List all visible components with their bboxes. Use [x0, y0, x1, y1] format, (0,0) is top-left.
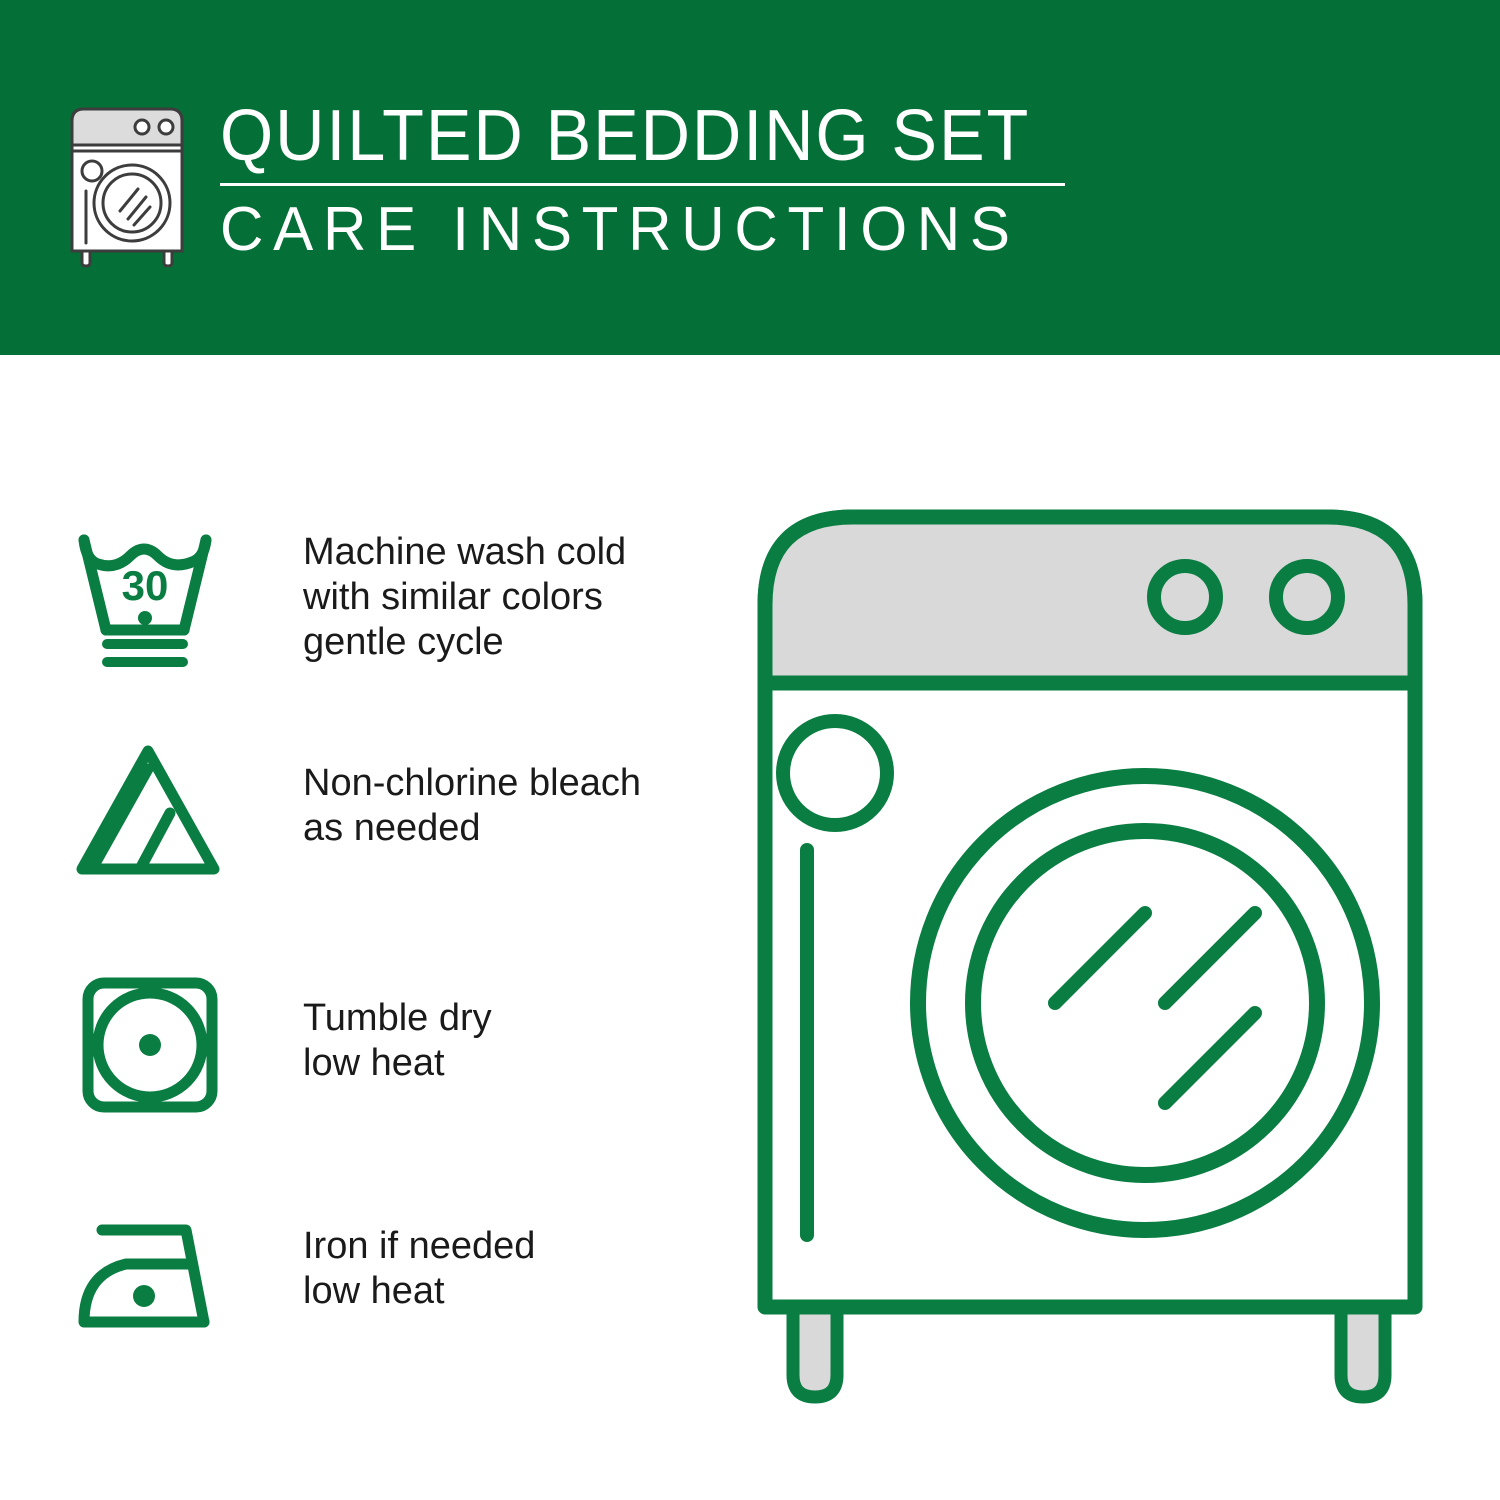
- detergent-dispenser: [783, 721, 887, 825]
- wash-temp-label: 30: [122, 562, 169, 609]
- care-text-line: with similar colors: [303, 575, 626, 620]
- title-divider: [220, 183, 1065, 186]
- knob-left: [1154, 566, 1216, 628]
- care-item-tumble-dry: Tumble dry low heat: [70, 970, 710, 1120]
- care-item-bleach: Non-chlorine bleach as needed: [70, 735, 710, 885]
- care-instructions-list: 30 Machine wash cold with similar colors…: [70, 500, 710, 1360]
- header-content: QUILTED BEDDING SET CARE INSTRUCTIONS: [62, 95, 1062, 280]
- wash-tub-30-gentle-icon: 30: [70, 522, 235, 672]
- page-subtitle: CARE INSTRUCTIONS: [220, 194, 1054, 266]
- care-text-line: low heat: [303, 1269, 535, 1314]
- care-text-line: Machine wash cold: [303, 530, 626, 575]
- care-text-line: as needed: [303, 806, 641, 851]
- washing-machine-icon: [62, 103, 192, 268]
- care-text-line: Tumble dry: [303, 996, 492, 1041]
- care-item-machine-wash: 30 Machine wash cold with similar colors…: [70, 522, 710, 672]
- care-instructions-infographic: QUILTED BEDDING SET CARE INSTRUCTIONS: [0, 0, 1500, 1500]
- bleach-triangle-non-chlorine-icon: [70, 735, 235, 885]
- tumble-dry-low-heat-icon: [70, 970, 235, 1120]
- header-title-group: QUILTED BEDDING SET CARE INSTRUCTIONS: [220, 95, 1080, 266]
- page-title: QUILTED BEDDING SET: [220, 95, 1037, 177]
- care-text-line: Non-chlorine bleach: [303, 761, 641, 806]
- care-text-line: gentle cycle: [303, 620, 626, 665]
- header-band: QUILTED BEDDING SET CARE INSTRUCTIONS: [0, 0, 1500, 355]
- care-item-text: Machine wash cold with similar colors ge…: [235, 522, 626, 665]
- care-text-line: low heat: [303, 1041, 492, 1086]
- front-load-washing-machine-illustration: [745, 495, 1455, 1415]
- leg-right: [1341, 1300, 1385, 1397]
- iron-low-heat-icon: [70, 1200, 235, 1350]
- care-item-text: Non-chlorine bleach as needed: [235, 735, 641, 851]
- knob-right: [1276, 566, 1338, 628]
- care-item-text: Iron if needed low heat: [235, 1200, 535, 1314]
- care-item-iron: Iron if needed low heat: [70, 1200, 710, 1350]
- care-text-line: Iron if needed: [303, 1224, 535, 1269]
- leg-left: [793, 1300, 837, 1397]
- care-item-text: Tumble dry low heat: [235, 970, 492, 1086]
- drum-door-inner-ring: [973, 831, 1317, 1175]
